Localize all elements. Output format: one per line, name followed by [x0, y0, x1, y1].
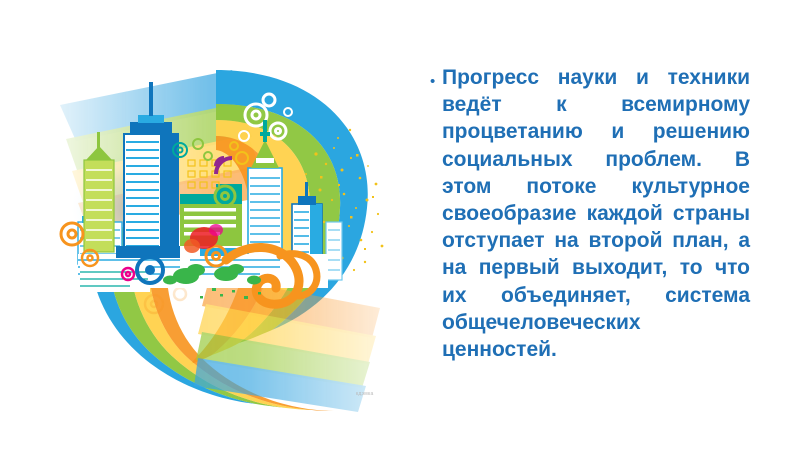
building-thin-right	[326, 222, 342, 280]
bullet-paragraph: Прогресс науки и техники ведёт к всемирн…	[442, 64, 750, 390]
image-watermark: кдэмка	[356, 391, 373, 397]
body-text-block: • Прогресс науки и техники ведёт к всеми…	[430, 64, 750, 390]
city-illustration	[20, 8, 440, 442]
bullet-marker-icon: •	[430, 74, 442, 89]
slide: кдэмка • Прогресс науки и техники ведёт …	[0, 0, 800, 450]
bullet-list-item: • Прогресс науки и техники ведёт к всеми…	[430, 64, 750, 390]
